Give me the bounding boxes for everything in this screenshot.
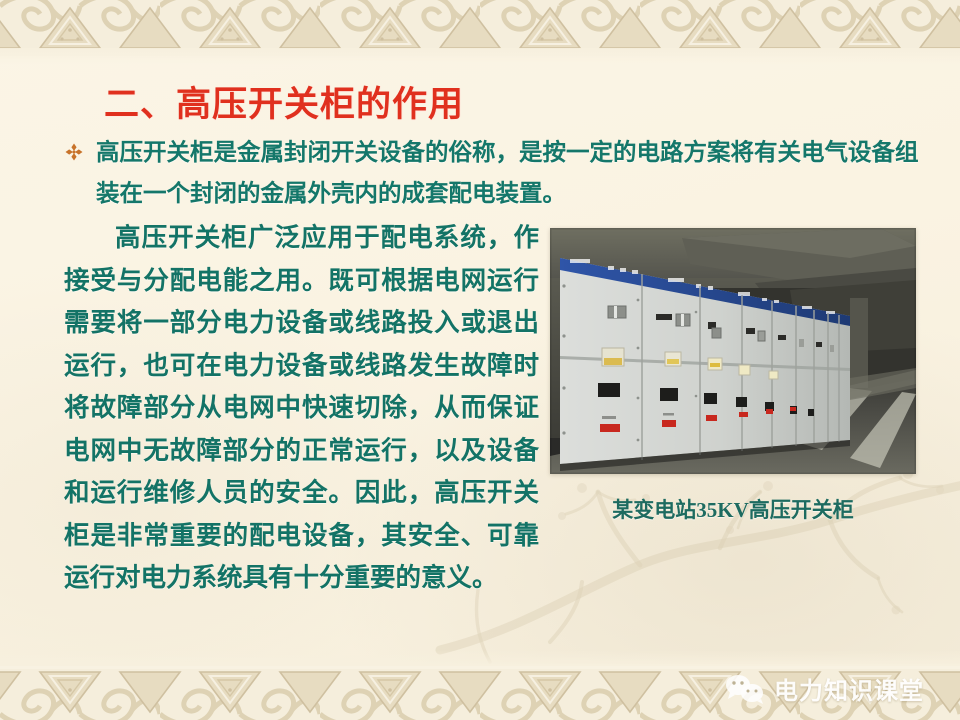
wechat-icon [723, 673, 765, 705]
bullet-item: 高压开关柜是金属封闭开关设备的俗称，是按一定的电路方案将有关电气设备组装在一个封… [64, 133, 924, 215]
bullet-text: 高压开关柜是金属封闭开关设备的俗称，是按一定的电路方案将有关电气设备组装在一个封… [96, 133, 924, 215]
brand-watermark: 电力知识课堂 [723, 671, 924, 706]
page-title: 二、高压开关柜的作用 [104, 76, 464, 127]
photo-caption: 某变电站35KV高压开关柜 [550, 494, 916, 524]
diamond-cluster-bullet-icon [64, 142, 84, 162]
switchgear-photo [550, 228, 916, 474]
top-decorative-border [0, 0, 960, 56]
slide-canvas: 二、高压开关柜的作用 高压开关柜是金属封闭开关设备的俗称，是按一定的电路方案将有… [0, 0, 960, 720]
body-paragraph: 高压开关柜广泛应用于配电系统，作接受与分配电能之用。既可根据电网运行需要将一部分… [64, 217, 539, 600]
brand-name: 电力知识课堂 [774, 671, 924, 706]
switchgear-photo-image [550, 228, 916, 474]
